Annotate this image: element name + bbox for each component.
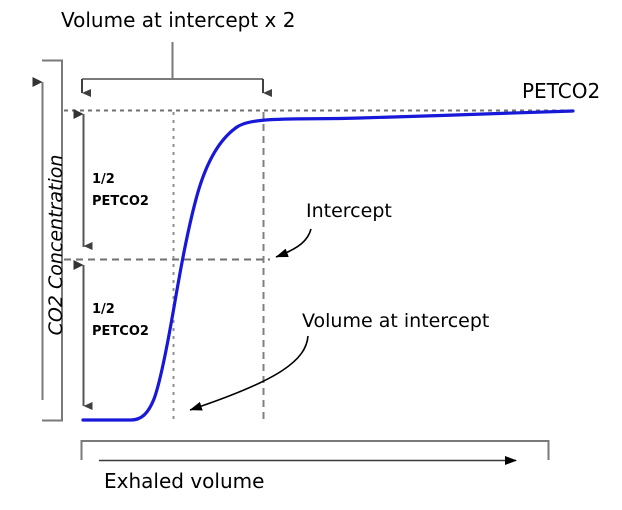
x-axis-group: [82, 441, 549, 461]
title-bracket: [82, 42, 263, 93]
half-petco2-upper-line2: PETCO2: [92, 194, 149, 209]
half-petco2-upper-line1: 1/2: [92, 172, 149, 187]
x-axis-label: Exhaled volume: [104, 471, 264, 492]
petco2-label: PETCO2: [522, 81, 600, 102]
y-axis-label: CO2 Concentration: [47, 130, 67, 360]
guide-lines: [64, 111, 573, 421]
x-axis-bracket: [82, 441, 549, 460]
half-petco2-upper-label: 1/2 PETCO2: [92, 172, 149, 209]
diagram-canvas: [0, 0, 622, 510]
volume-at-intercept-callout-arrow: [190, 336, 308, 410]
intercept-label: Intercept: [306, 202, 392, 222]
half-petco2-lower-label: 1/2 PETCO2: [92, 302, 149, 339]
half-petco2-lower-line1: 1/2: [92, 302, 149, 317]
volume-at-intercept-label: Volume at intercept: [302, 312, 489, 332]
capnogram-curve: [83, 111, 573, 420]
diagram-title: Volume at intercept x 2: [61, 10, 295, 31]
capnogram-diagram: Volume at intercept x 2 PETCO2 Intercept…: [0, 0, 622, 510]
half-petco2-lower-line2: PETCO2: [92, 324, 149, 339]
intercept-callout-arrow: [276, 229, 311, 257]
